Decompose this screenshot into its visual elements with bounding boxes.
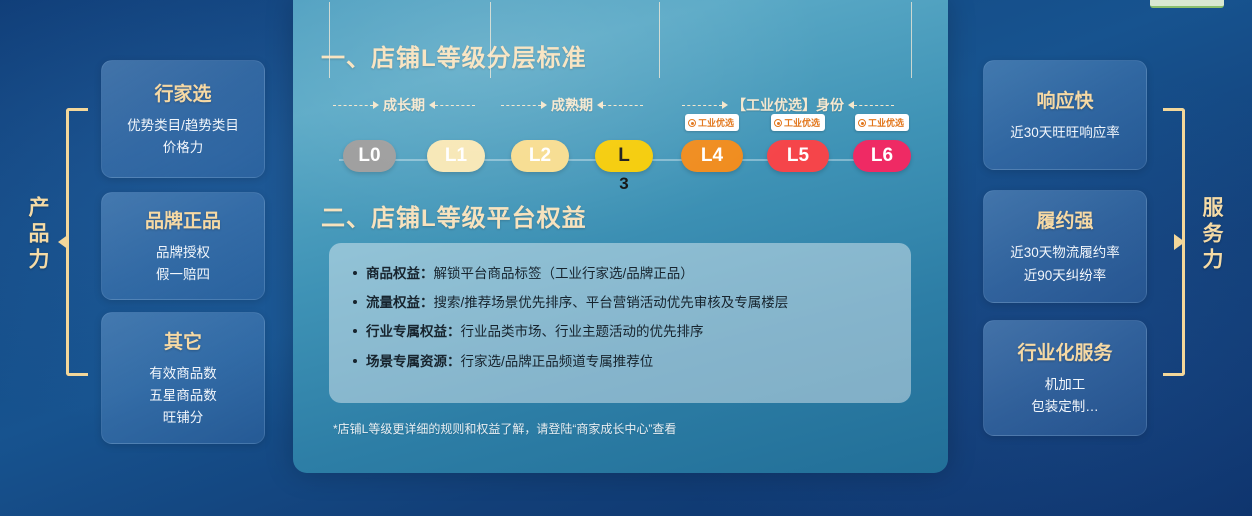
level-badge-0-label: L0	[358, 145, 380, 167]
card-right-1-line-0: 近30天物流履约率	[1010, 242, 1120, 264]
check-circle-icon	[688, 119, 696, 127]
dash-arrow-right-icon	[333, 100, 379, 110]
card-left-0-line-0: 优势类目/趋势类目	[127, 115, 239, 137]
benefit-item-3-key: 场景专属资源：	[366, 354, 461, 369]
level-badge-1[interactable]: L1	[427, 140, 485, 172]
level-badge-5[interactable]: 工业优选 L5	[767, 140, 829, 172]
right-bracket-arrow-icon	[1174, 234, 1185, 250]
industry-badge-5: 工业优选	[771, 114, 825, 131]
dash-arrow-left-icon	[429, 100, 475, 110]
card-left-1-line-1: 假一赔四	[156, 264, 210, 286]
card-left-0-line-1: 价格力	[163, 137, 204, 159]
card-left-0[interactable]: 行家选 优势类目/趋势类目 价格力	[101, 60, 265, 178]
dash-arrow-left-icon	[848, 100, 894, 110]
dash-arrow-right-icon	[501, 100, 547, 110]
check-circle-icon	[858, 119, 866, 127]
industry-badge-6-label: 工业优选	[868, 116, 904, 129]
card-right-0[interactable]: 响应快 近30天旺旺响应率	[983, 60, 1147, 170]
benefit-item-2-value: 行业品类市场、行业主题活动的优先排序	[461, 324, 704, 339]
benefit-item-0-key: 商品权益：	[366, 266, 434, 281]
stage-label-2: 【工业优选】身份	[732, 95, 844, 115]
level-badge-0[interactable]: L0	[343, 140, 396, 172]
stage-divider-1	[490, 2, 491, 78]
card-left-1[interactable]: 品牌正品 品牌授权 假一赔四	[101, 192, 265, 300]
card-right-2[interactable]: 行业化服务 机加工 包装定制…	[983, 320, 1147, 436]
stage-group-1: 成熟期	[497, 92, 647, 118]
level-badge-1-label: L1	[445, 145, 467, 167]
left-axis-label: 产品力	[22, 196, 52, 274]
card-right-1-title: 履约强	[1036, 206, 1093, 233]
card-left-0-title: 行家选	[154, 79, 211, 106]
card-left-2-line-0: 有效商品数	[149, 363, 217, 385]
stage-group-0: 成长期	[329, 92, 479, 118]
industry-badge-4: 工业优选	[685, 114, 739, 131]
card-right-2-title: 行业化服务	[1017, 338, 1112, 365]
top-right-chip	[1150, 0, 1224, 8]
industry-badge-4-label: 工业优选	[698, 116, 734, 129]
level-badge-4-label: L4	[701, 145, 723, 167]
card-right-2-line-0: 机加工	[1045, 374, 1086, 396]
dash-arrow-left-icon	[597, 100, 643, 110]
card-left-2-line-1: 五星商品数	[149, 385, 217, 407]
level-badge-6-label: L6	[871, 145, 893, 167]
level-track: L0 L1 L2 L 3 工业优选 L4 工业优选 L5	[329, 140, 911, 188]
benefit-item-1-key: 流量权益：	[366, 295, 434, 310]
stage-divider-0	[329, 2, 330, 78]
benefit-item-3: 场景专属资源：行家选/品牌正品频道专属推荐位	[353, 353, 887, 371]
industry-badge-5-label: 工业优选	[784, 116, 820, 129]
dash-arrow-right-icon	[682, 100, 728, 110]
main-panel: 一、店铺L等级分层标准 成长期 成熟期 【工业优选】身份 L0 L1	[293, 0, 948, 473]
level-badge-5-label: L5	[787, 145, 809, 167]
level-badge-3-label: L	[618, 145, 630, 167]
card-right-0-line-0: 近30天旺旺响应率	[1010, 122, 1120, 144]
left-bracket-arrow-icon	[58, 234, 69, 250]
bullet-icon	[353, 271, 357, 275]
stage-label-1: 成熟期	[551, 95, 593, 115]
bullet-icon	[353, 359, 357, 363]
benefit-item-3-value: 行家选/品牌正品频道专属推荐位	[461, 354, 654, 369]
section-1-title: 一、店铺L等级分层标准	[321, 38, 587, 73]
level-badge-4[interactable]: 工业优选 L4	[681, 140, 743, 172]
card-right-2-line-1: 包装定制…	[1031, 396, 1099, 418]
bullet-icon	[353, 300, 357, 304]
level-badge-3-sublabel: 3	[595, 174, 653, 194]
right-axis-label: 服务力	[1196, 196, 1226, 274]
left-bracket	[66, 108, 88, 376]
card-left-1-line-0: 品牌授权	[156, 242, 210, 264]
stage-divider-3	[911, 2, 912, 78]
benefit-item-2: 行业专属权益：行业品类市场、行业主题活动的优先排序	[353, 323, 887, 341]
card-right-1-line-1: 近90天纠纷率	[1024, 265, 1107, 287]
industry-badge-6: 工业优选	[855, 114, 909, 131]
benefit-item-0-value: 解锁平台商品标签（工业行家选/品牌正品）	[434, 266, 694, 281]
card-left-2-title: 其它	[164, 327, 202, 354]
level-badge-3[interactable]: L 3	[595, 140, 653, 172]
benefit-item-1-value: 搜索/推荐场景优先排序、平台营销活动优先审核及专属楼层	[434, 295, 789, 310]
card-left-2-line-2: 旺铺分	[163, 407, 204, 429]
level-badge-6[interactable]: 工业优选 L6	[853, 140, 911, 172]
card-left-1-title: 品牌正品	[145, 206, 221, 233]
benefit-item-0: 商品权益：解锁平台商品标签（工业行家选/品牌正品）	[353, 265, 887, 283]
bullet-icon	[353, 329, 357, 333]
section-2-title: 二、店铺L等级平台权益	[321, 198, 587, 233]
card-left-2[interactable]: 其它 有效商品数 五星商品数 旺铺分	[101, 312, 265, 444]
level-badge-2-label: L2	[529, 145, 551, 167]
footnote: *店铺L等级更详细的规则和权益了解，请登陆“商家成长中心”查看	[333, 420, 676, 437]
card-right-1[interactable]: 履约强 近30天物流履约率 近90天纠纷率	[983, 190, 1147, 303]
card-right-0-title: 响应快	[1036, 86, 1093, 113]
check-circle-icon	[774, 119, 782, 127]
benefits-box: 商品权益：解锁平台商品标签（工业行家选/品牌正品） 流量权益：搜索/推荐场景优先…	[329, 243, 911, 403]
stage-divider-2	[659, 2, 660, 78]
stage-label-0: 成长期	[383, 95, 425, 115]
level-badge-2[interactable]: L2	[511, 140, 569, 172]
benefit-item-2-key: 行业专属权益：	[366, 324, 461, 339]
benefit-item-1: 流量权益：搜索/推荐场景优先排序、平台营销活动优先审核及专属楼层	[353, 294, 887, 312]
